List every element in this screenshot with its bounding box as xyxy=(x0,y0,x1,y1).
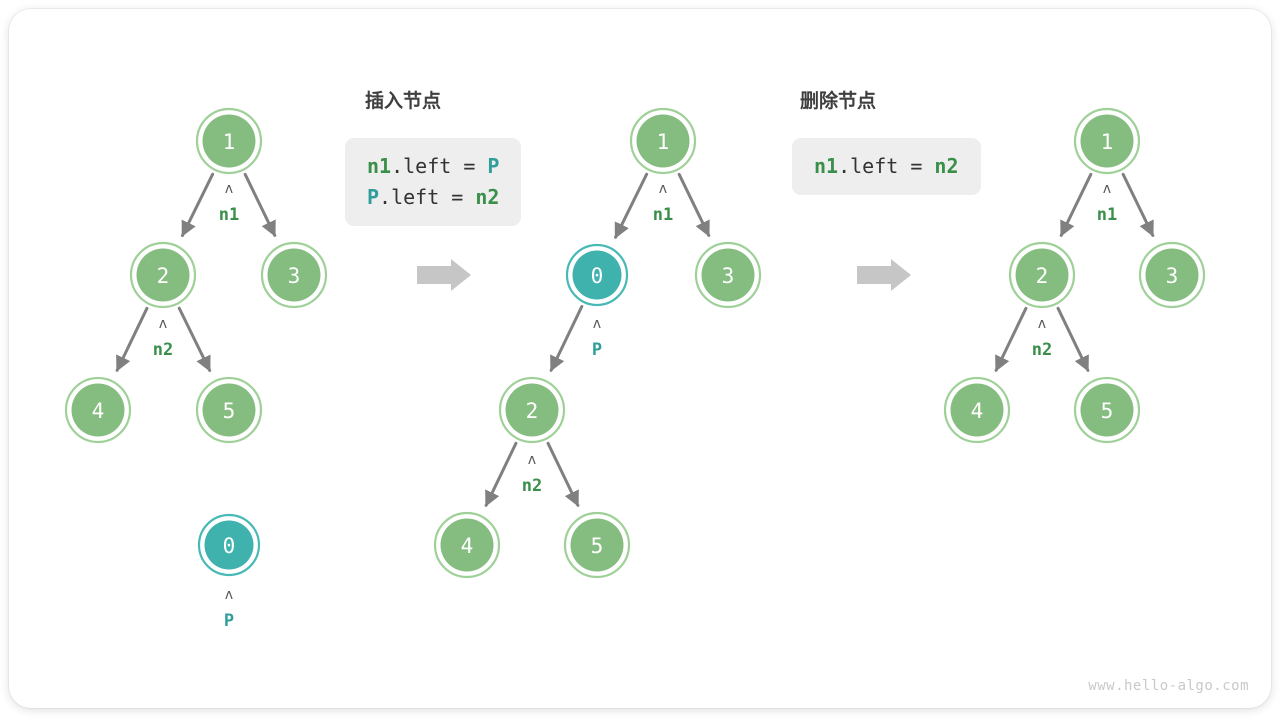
code-line: P.left = n2 xyxy=(367,182,499,213)
node-value: 5 xyxy=(591,534,604,558)
node-value: 2 xyxy=(1036,264,1049,288)
tree-edge xyxy=(551,307,582,371)
pointer-n2: n2 xyxy=(153,340,173,360)
tree-node-2[interactable]: 2 xyxy=(131,243,195,307)
tree-node-0[interactable]: 0 xyxy=(567,245,627,305)
node-value: 5 xyxy=(223,399,236,423)
pointer-caret-icon: ʌ xyxy=(593,316,601,332)
diagram-canvas: 12345010324512345 ʌn1ʌn2ʌPʌn1ʌPʌn2ʌn1ʌn2… xyxy=(0,0,1280,720)
tree-node-1[interactable]: 1 xyxy=(631,109,695,173)
code-line: n1.left = n2 xyxy=(814,151,959,182)
tree-edge xyxy=(1058,308,1088,370)
code-token: P xyxy=(367,185,379,209)
tree-diagram-svg: 12345010324512345 ʌn1ʌn2ʌPʌn1ʌPʌn2ʌn1ʌn2 xyxy=(0,0,1280,720)
node-value: 1 xyxy=(223,130,236,154)
tree-node-1[interactable]: 1 xyxy=(197,109,261,173)
node-value: 0 xyxy=(223,534,236,558)
node-value: 3 xyxy=(1166,264,1179,288)
node-value: 3 xyxy=(722,264,735,288)
node-value: 4 xyxy=(461,534,474,558)
pointer-n2: n2 xyxy=(1032,340,1052,360)
flow-arrow-2 xyxy=(857,259,911,291)
tree-node-5[interactable]: 5 xyxy=(565,513,629,577)
tree-edge xyxy=(1061,174,1091,235)
node-value: 1 xyxy=(657,130,670,154)
pointer-caret-icon: ʌ xyxy=(225,587,233,603)
tree-edge xyxy=(679,174,709,235)
tree-edge xyxy=(245,174,275,235)
node-value: 2 xyxy=(526,399,539,423)
pointer-caret-icon: ʌ xyxy=(159,316,167,332)
tree-node-4[interactable]: 4 xyxy=(66,378,130,442)
tree-edge xyxy=(486,443,516,505)
node-value: 4 xyxy=(971,399,984,423)
watermark: www.hello-algo.com xyxy=(1088,678,1249,694)
code-token: P xyxy=(487,154,499,178)
code-token: n1 xyxy=(814,154,838,178)
pointer-caret-icon: ʌ xyxy=(1103,181,1111,197)
code-token: .left = xyxy=(379,185,475,209)
node-value: 1 xyxy=(1101,130,1114,154)
code-box-insert: n1.left = PP.left = n2 xyxy=(345,138,521,226)
pointer-n1: n1 xyxy=(653,205,673,225)
tree-edge xyxy=(117,308,147,370)
tree-node-5[interactable]: 5 xyxy=(197,378,261,442)
node-value: 4 xyxy=(92,399,105,423)
flow-arrow-1 xyxy=(417,259,471,291)
code-token: .left = xyxy=(391,154,487,178)
node-value: 3 xyxy=(288,264,301,288)
pointer-p: P xyxy=(224,611,234,631)
code-token: n2 xyxy=(475,185,499,209)
tree-edge xyxy=(1123,174,1153,235)
pointer-n1: n1 xyxy=(1097,205,1117,225)
tree-edge xyxy=(182,174,212,235)
tree-node-5[interactable]: 5 xyxy=(1075,378,1139,442)
pointer-caret-icon: ʌ xyxy=(528,452,536,468)
tree-node-0[interactable]: 0 xyxy=(199,515,259,575)
code-token: .left = xyxy=(838,154,934,178)
pointer-n2: n2 xyxy=(522,476,542,496)
code-token: n2 xyxy=(934,154,958,178)
edges-layer xyxy=(117,174,1153,505)
tree-node-3[interactable]: 3 xyxy=(1140,243,1204,307)
node-value: 0 xyxy=(591,264,604,288)
pointer-caret-icon: ʌ xyxy=(225,181,233,197)
tree-node-2[interactable]: 2 xyxy=(500,378,564,442)
code-token: n1 xyxy=(367,154,391,178)
tree-node-1[interactable]: 1 xyxy=(1075,109,1139,173)
tree-edge xyxy=(996,308,1026,370)
pointer-caret-icon: ʌ xyxy=(1038,316,1046,332)
tree-edge xyxy=(179,308,209,370)
tree-edge xyxy=(616,174,647,237)
tree-node-3[interactable]: 3 xyxy=(262,243,326,307)
flow-arrows-layer xyxy=(417,259,911,291)
tree-edge xyxy=(548,443,578,505)
code-line: n1.left = P xyxy=(367,151,499,182)
panel-title-delete: 删除节点 xyxy=(800,86,876,113)
pointer-p: P xyxy=(592,340,602,360)
pointer-n1: n1 xyxy=(219,205,239,225)
node-value: 2 xyxy=(157,264,170,288)
tree-node-4[interactable]: 4 xyxy=(435,513,499,577)
tree-node-2[interactable]: 2 xyxy=(1010,243,1074,307)
tree-node-3[interactable]: 3 xyxy=(696,243,760,307)
pointer-caret-icon: ʌ xyxy=(659,181,667,197)
node-value: 5 xyxy=(1101,399,1114,423)
code-box-delete: n1.left = n2 xyxy=(792,138,981,195)
tree-node-4[interactable]: 4 xyxy=(945,378,1009,442)
panel-title-insert: 插入节点 xyxy=(365,86,441,113)
